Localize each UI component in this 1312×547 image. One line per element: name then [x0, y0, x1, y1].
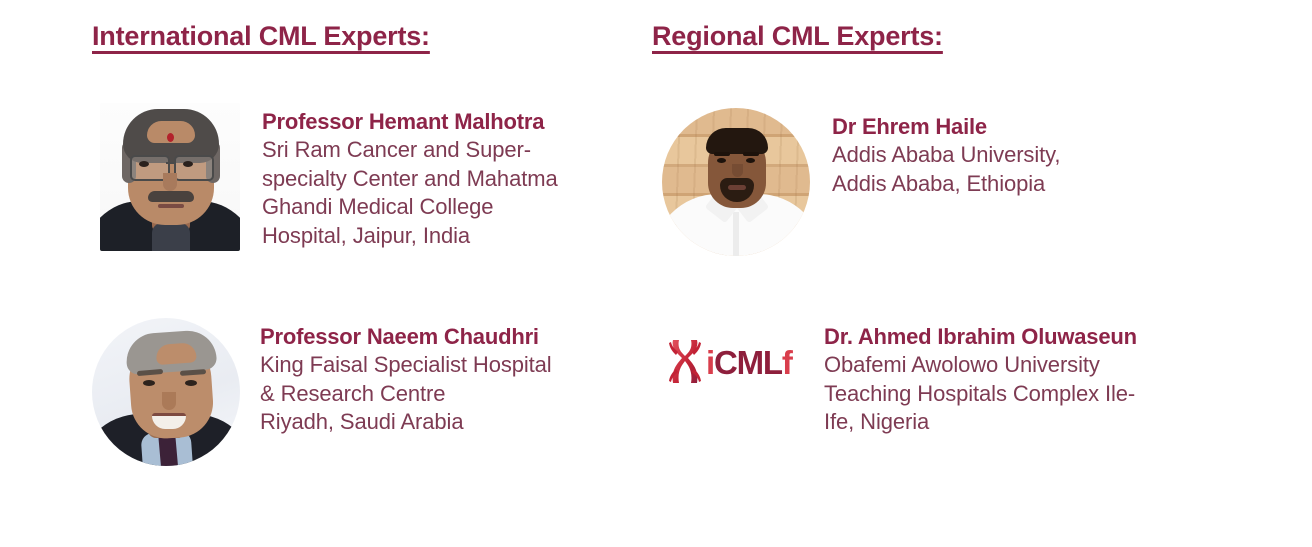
icmlf-letters-cml: CML — [714, 344, 782, 381]
icmlf-wordmark: iCMLf — [706, 346, 792, 379]
expert-card-ehrem-haile: Dr Ehrem Haile Addis Ababa University, A… — [662, 108, 1212, 256]
expert-card-hemant-malhotra: Professor Hemant Malhotra Sri Ram Cancer… — [100, 103, 654, 251]
expert-affiliation: Addis Ababa University, Addis Ababa, Eth… — [832, 141, 1212, 198]
heading-regional-cml-experts: Regional CML Experts: — [652, 21, 943, 52]
expert-details: Dr. Ahmed Ibrahim Oluwaseun Obafemi Awol… — [824, 318, 1254, 437]
portrait-hemant-malhotra — [100, 103, 240, 251]
heading-international-cml-experts: International CML Experts: — [92, 21, 430, 52]
expert-affiliation: Sri Ram Cancer and Super- specialty Cent… — [262, 136, 654, 250]
expert-details: Professor Hemant Malhotra Sri Ram Cancer… — [262, 103, 654, 250]
portrait-naeem-chaudhri — [92, 318, 240, 466]
experts-slide: International CML Experts: Regional CML … — [0, 0, 1312, 547]
icmlf-letter-i: i — [706, 344, 714, 381]
expert-affiliation: King Faisal Specialist Hospital & Resear… — [260, 351, 652, 437]
expert-card-naeem-chaudhri: Professor Naeem Chaudhri King Faisal Spe… — [92, 318, 652, 466]
expert-card-ahmed-ibrahim-oluwaseun: iCMLf Dr. Ahmed Ibrahim Oluwaseun Obafem… — [668, 318, 1254, 437]
expert-name: Dr Ehrem Haile — [832, 114, 1212, 140]
icmlf-letter-f: f — [782, 344, 792, 381]
expert-details: Professor Naeem Chaudhri King Faisal Spe… — [260, 318, 652, 437]
expert-name: Professor Naeem Chaudhri — [260, 324, 652, 350]
expert-affiliation: Obafemi Awolowo University Teaching Hosp… — [824, 351, 1254, 437]
chromosome-icon — [668, 339, 702, 385]
expert-details: Dr Ehrem Haile Addis Ababa University, A… — [832, 108, 1212, 198]
icmlf-logo: iCMLf — [668, 330, 796, 394]
expert-name: Professor Hemant Malhotra — [262, 109, 654, 135]
portrait-ehrem-haile — [662, 108, 810, 256]
expert-name: Dr. Ahmed Ibrahim Oluwaseun — [824, 324, 1254, 350]
